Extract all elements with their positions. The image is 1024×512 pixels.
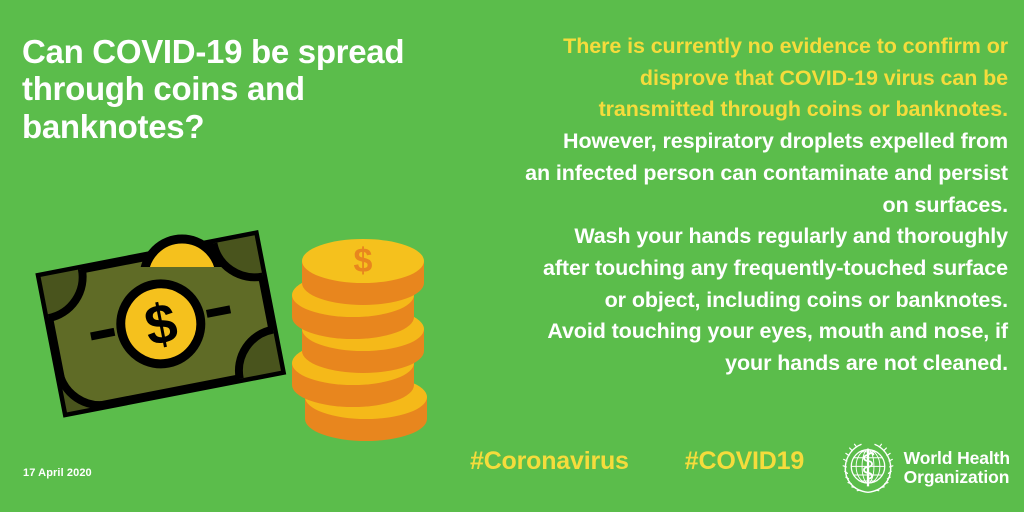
who-logo: World Health Organization xyxy=(841,441,1010,495)
body-line: transmitted through coins or banknotes. xyxy=(428,94,1008,126)
body-line: your hands are not cleaned. xyxy=(428,348,1008,380)
body-line: However, respiratory droplets expelled f… xyxy=(428,126,1008,158)
hashtag-coronavirus[interactable]: #Coronavirus xyxy=(470,447,629,476)
body-line: Wash your hands regularly and thoroughly xyxy=(428,221,1008,253)
coin-stack-icon: $ xyxy=(292,239,427,441)
hashtag-covid19[interactable]: #COVID19 xyxy=(685,447,804,476)
who-wordmark-line2: Organization xyxy=(904,468,1010,487)
body-line: on surfaces. xyxy=(428,190,1008,222)
page-title: Can COVID-19 be spread through coins and… xyxy=(22,33,472,145)
who-wordmark-line1: World Health xyxy=(904,449,1010,468)
body-line: an infected person can contaminate and p… xyxy=(428,158,1008,190)
hashtag-row: #Coronavirus #COVID19 xyxy=(470,447,804,476)
who-infographic-poster: Can COVID-19 be spread through coins and… xyxy=(0,0,1024,512)
body-line: disprove that COVID-19 virus can be xyxy=(428,63,1008,95)
who-wordmark: World Health Organization xyxy=(904,449,1010,487)
body-line: after touching any frequently-touched su… xyxy=(428,253,1008,285)
who-emblem-icon xyxy=(841,441,895,495)
body-line: or object, including coins or banknotes. xyxy=(428,285,1008,317)
body-line: Avoid touching your eyes, mouth and nose… xyxy=(428,316,1008,348)
body-copy: There is currently no evidence to confir… xyxy=(428,31,1008,380)
money-illustration: $ xyxy=(30,215,450,460)
body-line: There is currently no evidence to confir… xyxy=(428,31,1008,63)
date-stamp: 17 April 2020 xyxy=(23,467,92,479)
svg-text:$: $ xyxy=(354,242,373,280)
